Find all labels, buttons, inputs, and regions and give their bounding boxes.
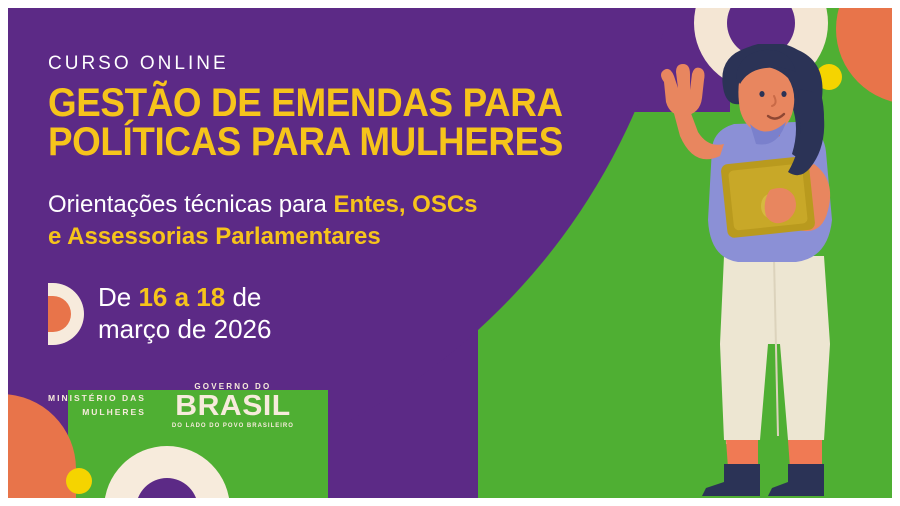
subheadline-plain: Orientações técnicas para — [48, 191, 333, 218]
text-content: CURSO ONLINE GESTÃO DE EMENDAS PARA POLÍ… — [48, 54, 568, 346]
promo-banner: CURSO ONLINE GESTÃO DE EMENDAS PARA POLÍ… — [0, 0, 900, 506]
gov-wordmark: BRASIL — [169, 392, 296, 422]
eyebrow-label: CURSO ONLINE — [48, 54, 568, 75]
headline-line-2: POLÍTICAS PARA MULHERES — [48, 123, 526, 163]
banner-canvas: CURSO ONLINE GESTÃO DE EMENDAS PARA POLÍ… — [8, 8, 892, 498]
headline: GESTÃO DE EMENDAS PARA POLÍTICAS PARA MU… — [48, 84, 526, 163]
date-range: 16 a 18 — [138, 282, 225, 312]
subheadline: Orientações técnicas para Entes, OSCs e … — [48, 189, 538, 252]
headline-line-1: GESTÃO DE EMENDAS PARA — [48, 84, 526, 124]
gov-tagline: DO LADO DO POVO BRASILEIRO — [172, 423, 294, 429]
yellow-dot-bottom — [66, 468, 92, 494]
date-middle: de — [225, 282, 261, 312]
subheadline-highlight-2: e Assessorias Parlamentares — [48, 223, 381, 250]
date-line-2: março de 2026 — [98, 314, 271, 344]
logo-governo-do-brasil: GOVERNO DO BRASIL DO LADO DO POVO BRASIL… — [172, 382, 294, 429]
subheadline-highlight-1: Entes, OSCs — [333, 191, 477, 218]
logo-ministerio-das-mulheres: MINISTÉRIO DAS MULHERES — [48, 391, 146, 420]
date-row: De 16 a 18 de março de 2026 — [48, 282, 568, 345]
ministry-line-2: MULHERES — [48, 405, 146, 419]
ministry-line-1: MINISTÉRIO DAS — [48, 391, 146, 405]
event-date: De 16 a 18 de março de 2026 — [98, 282, 271, 345]
logo-lockup: MINISTÉRIO DAS MULHERES GOVERNO DO BRASI… — [48, 382, 294, 429]
date-prefix: De — [98, 282, 138, 312]
half-disc-icon — [48, 283, 84, 345]
illustration-woman-waving-with-tablet — [628, 44, 892, 498]
